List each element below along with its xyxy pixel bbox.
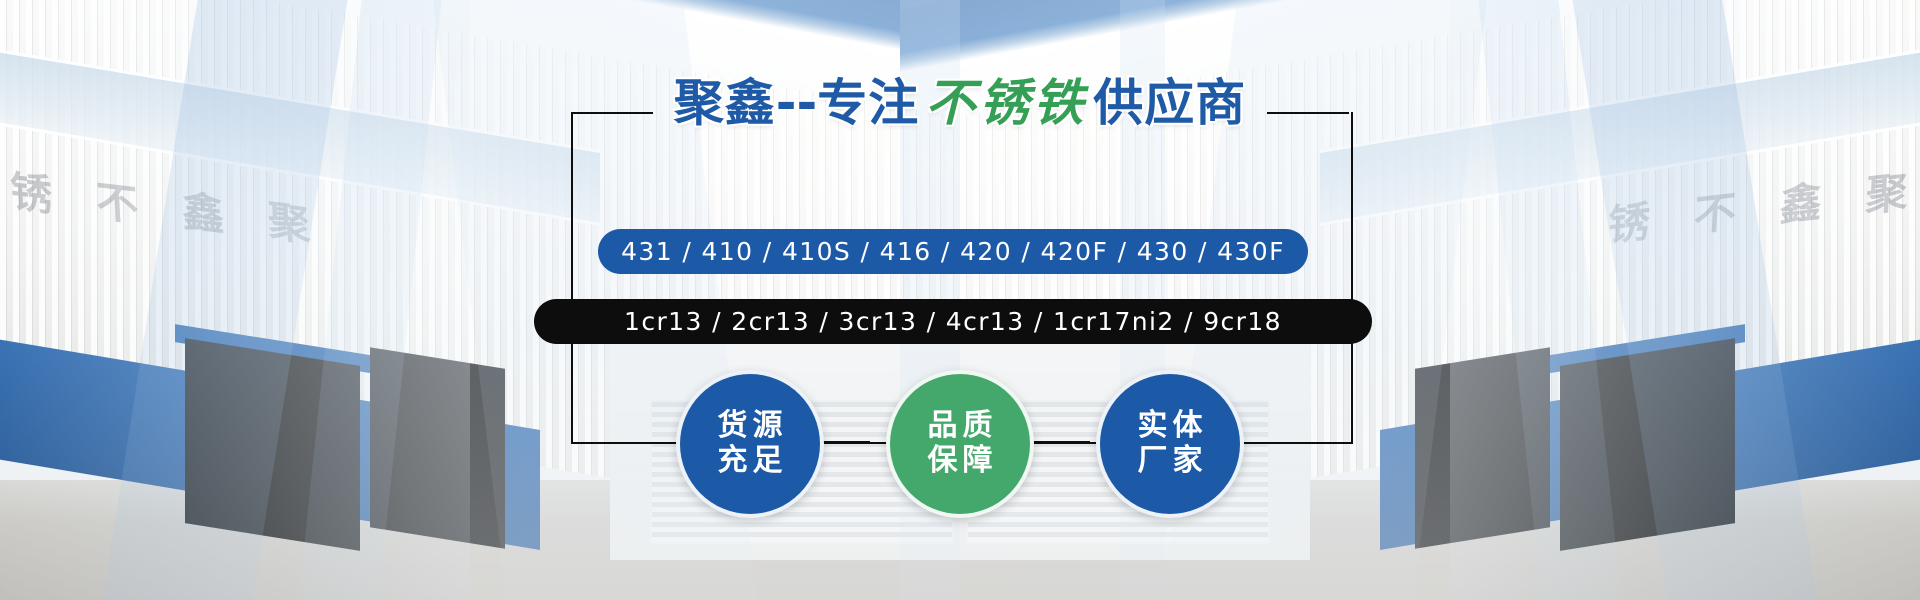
headline-part-2: 供应商	[1093, 74, 1246, 132]
badge-quality-line-2: 保障	[923, 444, 998, 479]
headline: 聚鑫--专注不锈铁供应商	[0, 78, 1920, 128]
promotional-banner: 锈 不 鑫 聚 锈 不 鑫 聚 聚鑫--专注不锈铁供应商	[0, 0, 1920, 600]
headline-brand: 聚鑫	[674, 74, 776, 132]
badge-group: 货源 充足 品质 保障 实体 厂家	[0, 370, 1920, 518]
grade-bar-cr: 1cr13 / 2cr13 / 3cr13 / 4cr13 / 1cr17ni2…	[534, 299, 1372, 344]
badge-quality-line-1: 品质	[923, 409, 998, 444]
badge-factory-line-2: 厂家	[1133, 444, 1208, 479]
badge-factory: 实体 厂家	[1096, 370, 1244, 518]
headline-part-1: 专注	[817, 74, 919, 132]
grade-bar-stainless-text: 431 / 410 / 410S / 416 / 420 / 420F / 43…	[621, 237, 1285, 266]
badge-quality: 品质 保障	[886, 370, 1034, 518]
headline-highlight: 不锈铁	[919, 74, 1093, 132]
headline-dash: --	[776, 74, 818, 132]
badge-supply: 货源 充足	[676, 370, 824, 518]
banner-content: 聚鑫--专注不锈铁供应商 431 / 410 / 410S / 416 / 42…	[0, 0, 1920, 600]
badge-supply-line-1: 货源	[713, 409, 788, 444]
badge-supply-line-2: 充足	[713, 444, 788, 479]
badge-factory-line-1: 实体	[1133, 409, 1208, 444]
grade-bar-cr-text: 1cr13 / 2cr13 / 3cr13 / 4cr13 / 1cr17ni2…	[624, 307, 1282, 336]
grade-bar-stainless: 431 / 410 / 410S / 416 / 420 / 420F / 43…	[598, 229, 1308, 274]
